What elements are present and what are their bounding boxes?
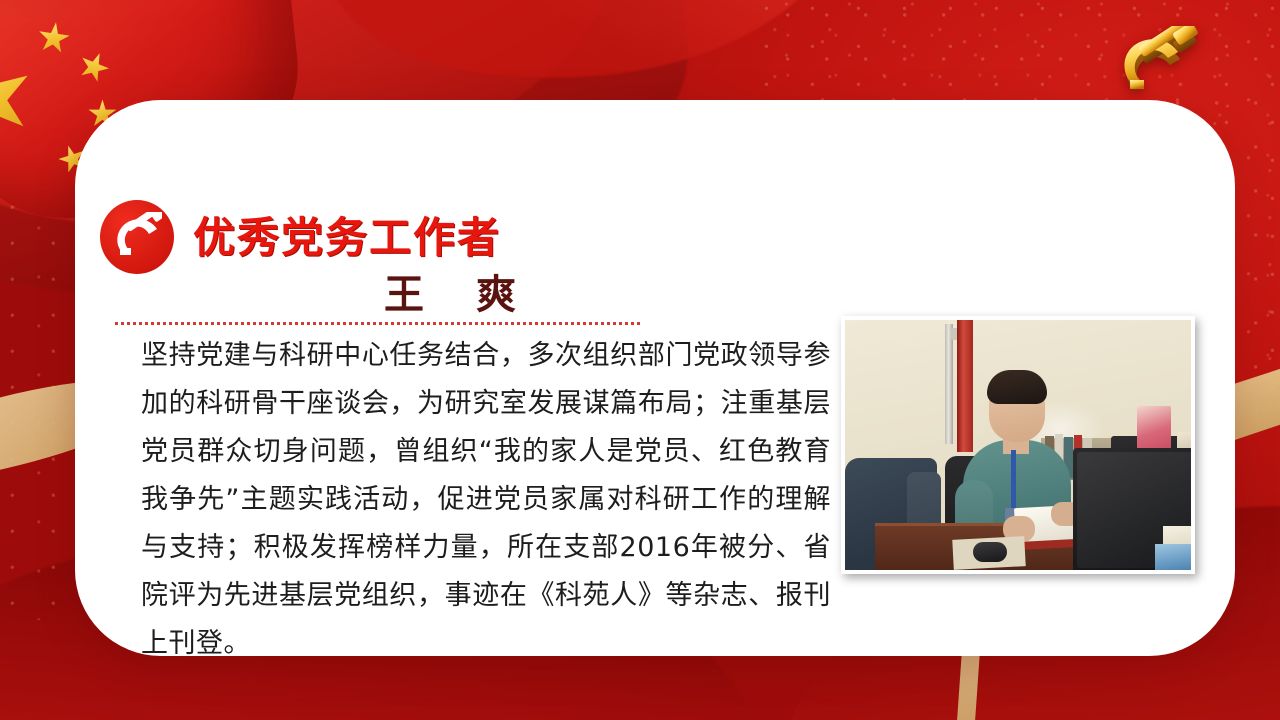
photo-mouse xyxy=(973,542,1007,562)
photo-thin-pipe xyxy=(945,324,953,444)
hammer-sickle-icon xyxy=(100,200,174,274)
content-card: 优秀党务工作者 王 爽 坚持党建与科研中心任务结合，多次组织部门党政领导参加的科… xyxy=(75,100,1235,656)
flag-star-small-1 xyxy=(36,20,72,56)
photo-red-pipe xyxy=(957,320,973,452)
photo-person-hair xyxy=(987,370,1047,404)
gold-hammer-sickle-icon xyxy=(1110,26,1228,108)
flag-star-small-2 xyxy=(74,48,113,87)
achievement-description: 坚持党建与科研中心任务结合，多次组织部门党政领导参加的科研骨干座谈会，为研究室发… xyxy=(141,332,831,656)
person-name: 王 爽 xyxy=(193,262,713,320)
photo-blue-folders xyxy=(1155,544,1195,574)
flag-star-large xyxy=(0,46,43,150)
photo-lanyard xyxy=(1011,450,1016,512)
person-photo xyxy=(841,316,1195,574)
page-title: 优秀党务工作者 xyxy=(193,204,501,265)
dotted-divider xyxy=(115,322,641,325)
photo-poster xyxy=(1137,406,1171,452)
